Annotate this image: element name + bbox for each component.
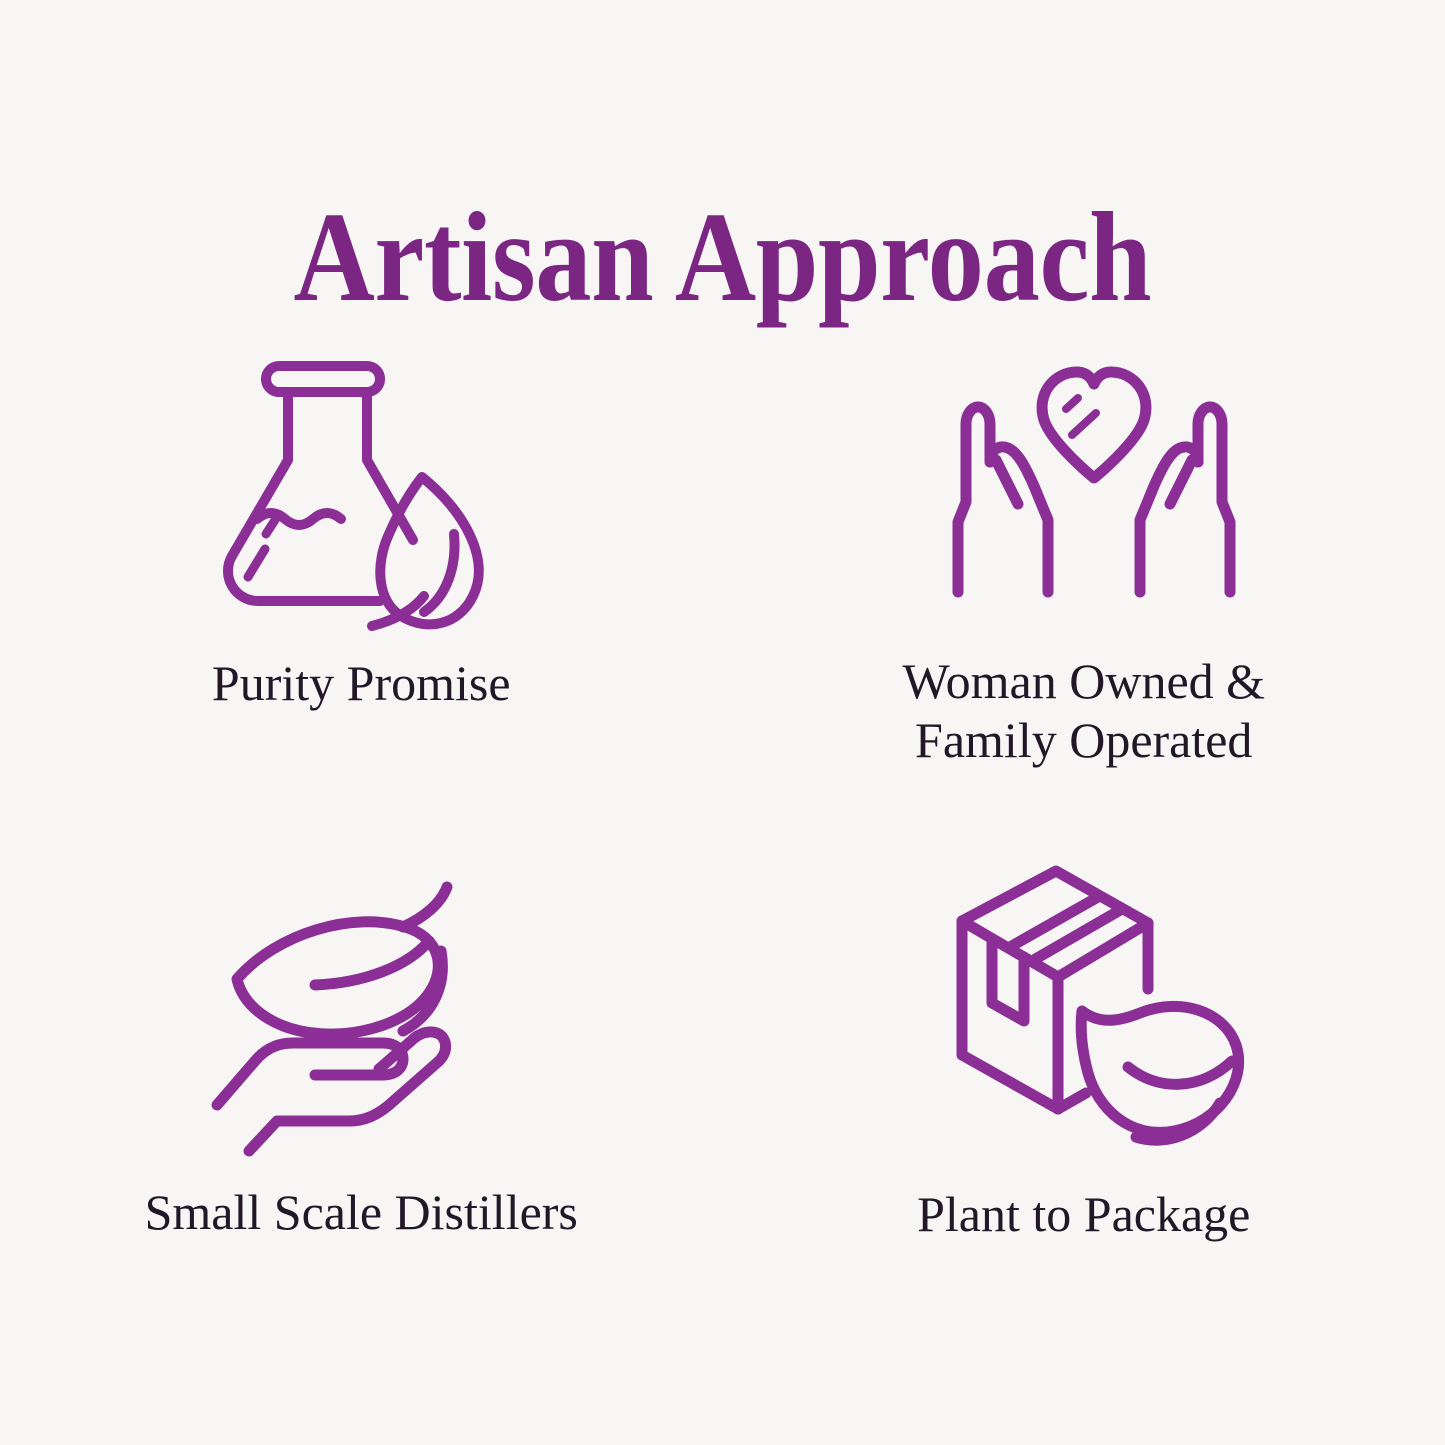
feature-item-plant-to-package: Plant to Package: [723, 835, 1445, 1340]
page-title: Artisan Approach: [294, 190, 1152, 324]
feature-item-purity-promise: Purity Promise: [0, 330, 723, 835]
artisan-approach-graphic: Artisan Approach: [0, 0, 1445, 1445]
feature-item-woman-owned: Woman Owned & Family Operated: [723, 330, 1445, 835]
feature-item-small-scale-distillers: Small Scale Distillers: [0, 835, 723, 1340]
flask-leaf-icon: [217, 344, 517, 634]
hand-holding-leaf-icon: [203, 875, 503, 1165]
hands-holding-heart-icon: [944, 352, 1244, 642]
box-leaf-icon: [952, 861, 1252, 1151]
feature-label-line: Family Operated: [902, 711, 1265, 770]
feature-grid: Purity Promise: [0, 330, 1445, 1340]
feature-label-line: Small Scale Distillers: [145, 1183, 578, 1242]
feature-label-purity-promise: Purity Promise: [212, 654, 511, 713]
feature-label-woman-owned: Woman Owned & Family Operated: [902, 652, 1265, 770]
feature-label-line: Plant to Package: [917, 1185, 1250, 1244]
feature-label-small-scale-distillers: Small Scale Distillers: [145, 1183, 578, 1242]
feature-label-plant-to-package: Plant to Package: [917, 1185, 1250, 1244]
feature-label-line: Woman Owned &: [902, 652, 1265, 711]
feature-label-line: Purity Promise: [212, 654, 511, 713]
